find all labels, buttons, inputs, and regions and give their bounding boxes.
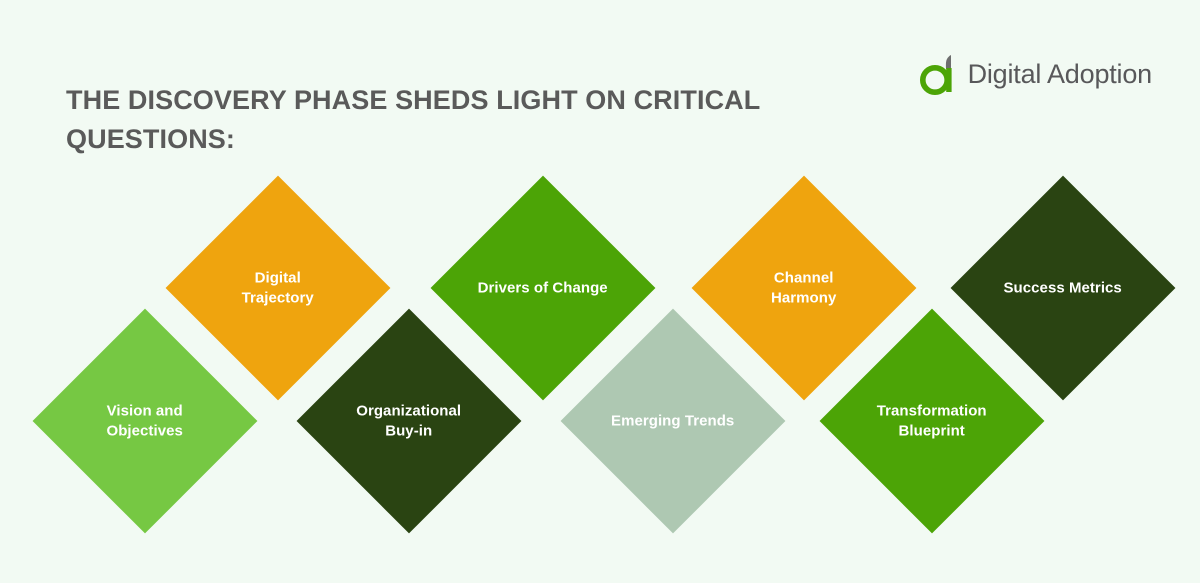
diamond-card-label: Digital Trajectory — [199, 268, 358, 308]
diamond-card-label: Transformation Blueprint — [853, 401, 1012, 441]
diamond-card-label: Vision and Objectives — [66, 401, 225, 441]
diamond-card-label: Emerging Trends — [594, 411, 753, 431]
diamond-card-label: Drivers of Change — [464, 278, 623, 298]
diamond-card-label: Organizational Buy-in — [330, 401, 489, 441]
diamond-row: Vision and ObjectivesDigital TrajectoryO… — [0, 0, 1200, 583]
infographic-canvas: The Discovery Phase Sheds Light On Criti… — [0, 0, 1200, 583]
diamond-card-label: Channel Harmony — [725, 268, 884, 308]
diamond-card-label: Success Metrics — [984, 278, 1143, 298]
